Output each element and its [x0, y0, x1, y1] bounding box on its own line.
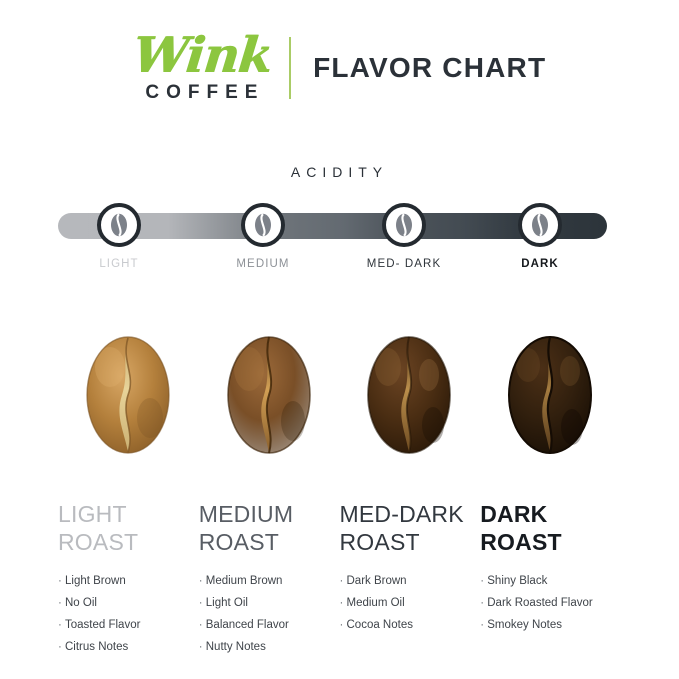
brand-subtitle: COFFEE	[145, 82, 264, 104]
roast-column-med-dark: MED-DARK ROAST ·Dark Brown ·Medium Oil ·…	[340, 318, 480, 658]
scale-label-med-dark: MED- DARK	[334, 258, 474, 270]
page-title: FLAVOR CHART	[313, 52, 546, 84]
bean-image-med-dark	[340, 318, 480, 468]
acidity-scale-title: ACIDITY	[0, 164, 679, 180]
bean-image-medium	[199, 318, 339, 468]
bullet-dot: ·	[58, 570, 65, 592]
note-text: Dark Roasted Flavor	[487, 597, 592, 609]
bean-image-light	[58, 318, 198, 468]
coffee-bean-med-dark-icon	[355, 323, 463, 463]
list-item: ·Dark Brown	[340, 570, 480, 592]
list-item: ·No Oil	[58, 592, 198, 614]
scale-label-light: LIGHT	[49, 258, 189, 270]
roast-notes-light: ·Light Brown ·No Oil ·Toasted Flavor ·Ci…	[58, 570, 198, 658]
scale-label-medium: MEDIUM	[193, 258, 333, 270]
list-item: ·Medium Oil	[340, 592, 480, 614]
list-item: ·Medium Brown	[199, 570, 339, 592]
coffee-bean-light-icon	[74, 323, 182, 463]
note-text: Citrus Notes	[65, 641, 128, 653]
list-item: ·Light Oil	[199, 592, 339, 614]
coffee-bean-icon	[109, 213, 129, 237]
list-item: ·Dark Roasted Flavor	[480, 592, 620, 614]
coffee-bean-medium-icon	[215, 323, 323, 463]
roast-title-light: LIGHT ROAST	[58, 500, 198, 556]
note-text: Cocoa Notes	[347, 619, 413, 631]
bullet-dot: ·	[58, 614, 65, 636]
note-text: Medium Brown	[206, 575, 283, 587]
coffee-bean-icon	[253, 213, 273, 237]
brand-logo: Wink COFFEE	[133, 32, 271, 104]
note-text: Shiny Black	[487, 575, 547, 587]
scale-marker-med-dark[interactable]	[382, 203, 426, 247]
page-header: Wink COFFEE FLAVOR CHART	[0, 22, 679, 114]
brand-wordmark: Wink	[130, 32, 273, 79]
note-text: Light Oil	[206, 597, 248, 609]
note-text: No Oil	[65, 597, 97, 609]
bullet-dot: ·	[58, 636, 65, 658]
list-item: ·Cocoa Notes	[340, 614, 480, 636]
roast-notes-medium: ·Medium Brown ·Light Oil ·Balanced Flavo…	[199, 570, 339, 658]
roast-column-light: LIGHT ROAST ·Light Brown ·No Oil ·Toaste…	[58, 318, 198, 658]
coffee-bean-dark-icon	[496, 323, 604, 463]
bullet-dot: ·	[199, 636, 206, 658]
acidity-scale: LIGHT MEDIUM MED- DARK DARK	[58, 210, 607, 276]
list-item: ·Shiny Black	[480, 570, 620, 592]
note-text: Balanced Flavor	[206, 619, 289, 631]
roast-column-dark: DARK ROAST ·Shiny Black ·Dark Roasted Fl…	[480, 318, 620, 658]
coffee-bean-icon	[530, 213, 550, 237]
coffee-bean-icon	[394, 213, 414, 237]
note-text: Medium Oil	[347, 597, 405, 609]
header-divider	[289, 37, 291, 99]
note-text: Smokey Notes	[487, 619, 562, 631]
roast-notes-med-dark: ·Dark Brown ·Medium Oil ·Cocoa Notes	[340, 570, 480, 636]
list-item: ·Balanced Flavor	[199, 614, 339, 636]
list-item: ·Smokey Notes	[480, 614, 620, 636]
scale-marker-light[interactable]	[97, 203, 141, 247]
bullet-dot: ·	[199, 592, 206, 614]
bullet-dot: ·	[199, 570, 206, 592]
note-text: Toasted Flavor	[65, 619, 140, 631]
scale-marker-medium[interactable]	[241, 203, 285, 247]
bullet-dot: ·	[58, 592, 65, 614]
list-item: ·Toasted Flavor	[58, 614, 198, 636]
scale-label-dark: DARK	[470, 258, 610, 270]
roast-title-medium: MEDIUM ROAST	[199, 500, 339, 556]
note-text: Nutty Notes	[206, 641, 266, 653]
roast-columns: LIGHT ROAST ·Light Brown ·No Oil ·Toaste…	[58, 318, 621, 658]
list-item: ·Light Brown	[58, 570, 198, 592]
bean-image-dark	[480, 318, 620, 468]
bullet-dot: ·	[199, 614, 206, 636]
note-text: Light Brown	[65, 575, 126, 587]
note-text: Dark Brown	[347, 575, 407, 587]
bullet-dot: ·	[340, 614, 347, 636]
roast-column-medium: MEDIUM ROAST ·Medium Brown ·Light Oil ·B…	[199, 318, 339, 658]
roast-title-med-dark: MED-DARK ROAST	[340, 500, 480, 556]
scale-marker-dark[interactable]	[518, 203, 562, 247]
bullet-dot: ·	[340, 592, 347, 614]
roast-title-dark: DARK ROAST	[480, 500, 620, 556]
roast-notes-dark: ·Shiny Black ·Dark Roasted Flavor ·Smoke…	[480, 570, 620, 636]
list-item: ·Nutty Notes	[199, 636, 339, 658]
bullet-dot: ·	[340, 570, 347, 592]
list-item: ·Citrus Notes	[58, 636, 198, 658]
